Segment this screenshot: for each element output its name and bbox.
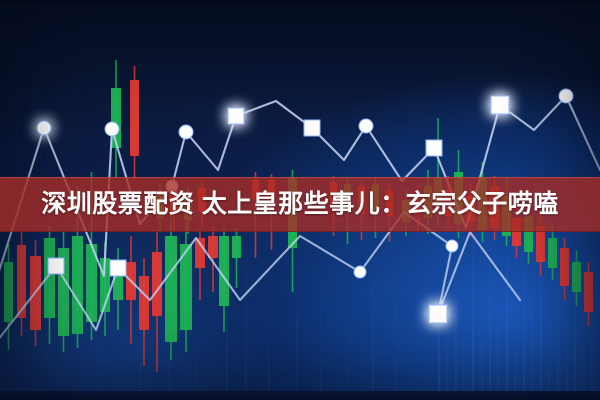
zigzag-node-circle — [179, 125, 193, 139]
zigzag-node-circle — [559, 89, 573, 103]
zigzag-node-square — [304, 120, 320, 136]
band-bottom-edge — [0, 231, 600, 232]
zigzag-node-circle — [105, 122, 119, 136]
band-top-edge — [0, 177, 600, 178]
banner-title: 深圳股票配资 太上皇那些事儿：玄宗父子唠嗑 — [41, 192, 558, 217]
zigzag-node-square — [48, 258, 64, 274]
zigzag-node-square — [426, 140, 442, 156]
zigzag-node-circle — [354, 266, 366, 278]
zigzag-node-circle — [37, 121, 51, 135]
zigzag-node-square — [228, 108, 244, 124]
title-banner-band: 深圳股票配资 太上皇那些事儿：玄宗父子唠嗑 — [0, 177, 600, 232]
zigzag-node-circle — [446, 240, 458, 252]
stock-banner-image: 深圳股票配资 太上皇那些事儿：玄宗父子唠嗑 — [0, 0, 600, 400]
zigzag-path-lower — [0, 212, 520, 350]
bottom-edge-strip — [0, 391, 600, 400]
zigzag-node-square — [110, 260, 126, 276]
zigzag-node-circle — [359, 119, 373, 133]
zigzag-node-square — [429, 305, 447, 323]
zigzag-node-square — [491, 96, 509, 114]
